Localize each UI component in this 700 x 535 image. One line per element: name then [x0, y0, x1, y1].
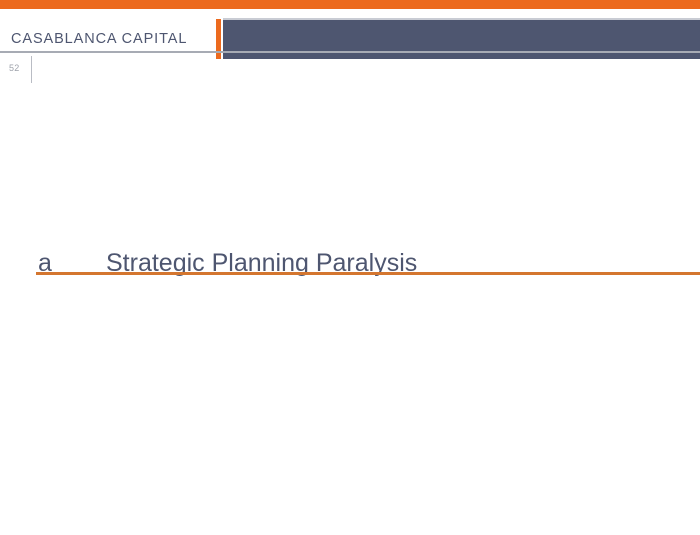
header-slate-panel: [223, 20, 700, 59]
section-bullet-marker: a: [38, 245, 52, 281]
page-number: 52: [9, 64, 20, 73]
header-orange-divider: [216, 19, 221, 59]
section-heading: Strategic Planning Paralysis: [106, 245, 417, 281]
company-name-label: CASABLANCA CAPITAL: [11, 31, 187, 47]
presentation-slide: CASABLANCA CAPITAL 52 a Strategic Planni…: [0, 0, 700, 535]
slide-header: CASABLANCA CAPITAL: [0, 9, 700, 53]
slide-body: a Strategic Planning Paralysis: [0, 84, 700, 535]
section-title-underline: [36, 272, 700, 275]
top-accent-bar: [0, 0, 700, 9]
page-number-divider: [31, 56, 32, 83]
section-title-row: a Strategic Planning Paralysis: [36, 245, 700, 285]
header-bottom-rule: [0, 51, 700, 53]
